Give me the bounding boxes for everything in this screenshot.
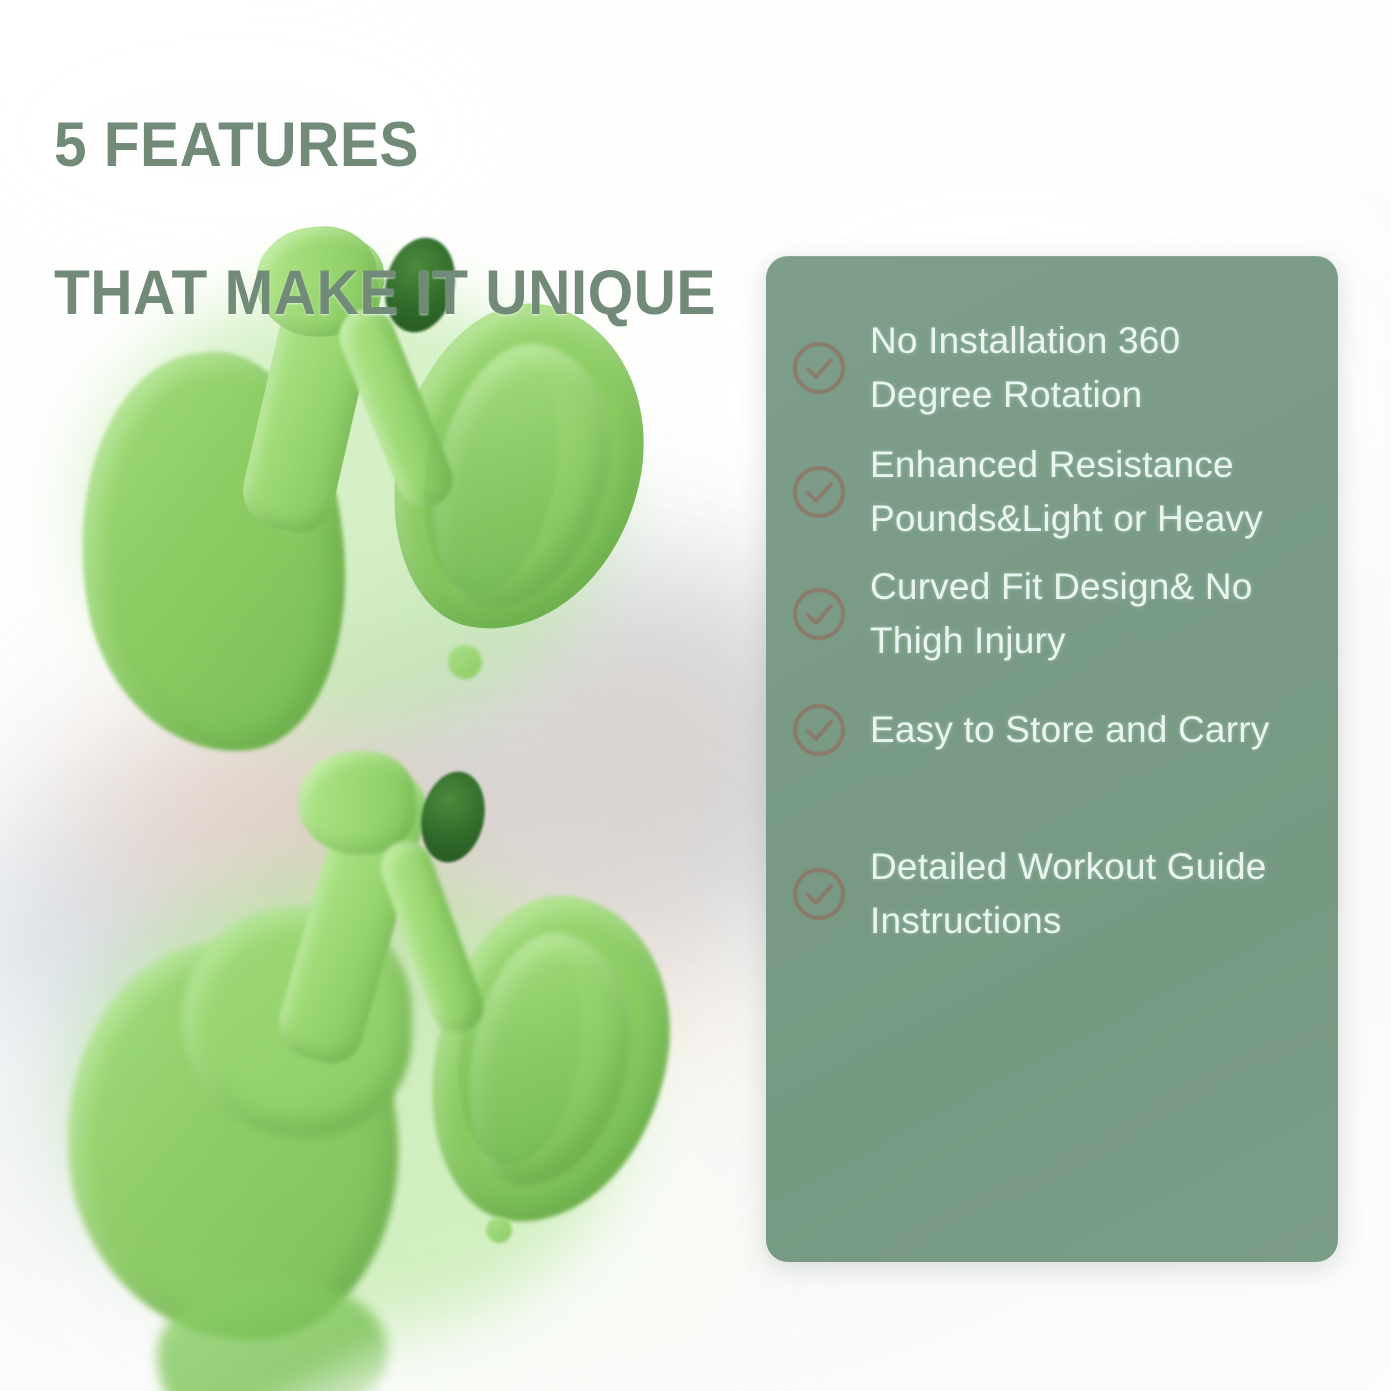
feature-list: No Installation 360 Degree Rotation Enha… xyxy=(766,256,1338,1262)
feature-item-1: No Installation 360 Degree Rotation xyxy=(766,314,1312,422)
product-image-lower xyxy=(40,745,720,1391)
check-circle-icon xyxy=(790,585,848,643)
check-circle-icon xyxy=(790,463,848,521)
page-title-line-2: THAT MAKE IT UNIQUE xyxy=(54,256,872,330)
page-title-line-1: 5 FEATURES xyxy=(54,108,872,182)
feature-panel: No Installation 360 Degree Rotation Enha… xyxy=(766,256,1338,1262)
check-circle-icon xyxy=(790,701,848,759)
feature-item-4: Easy to Store and Carry xyxy=(766,682,1312,778)
feature-item-2: Enhanced Resistance Pounds&Light or Heav… xyxy=(766,438,1312,546)
page-title: 5 FEATURES THAT MAKE IT UNIQUE xyxy=(54,34,872,404)
feature-label: No Installation 360 Degree Rotation xyxy=(870,314,1312,422)
feature-item-5: Detailed Workout Guide Instructions xyxy=(766,840,1312,948)
feature-label: Enhanced Resistance Pounds&Light or Heav… xyxy=(870,438,1312,546)
infographic-canvas: 5 FEATURES THAT MAKE IT UNIQUE No Instal… xyxy=(0,0,1391,1391)
check-circle-icon xyxy=(790,339,848,397)
feature-item-3: Curved Fit Design& No Thigh Injury xyxy=(766,560,1312,668)
feature-label: Easy to Store and Carry xyxy=(870,703,1312,757)
check-circle-icon xyxy=(790,865,848,923)
product-knob xyxy=(486,1217,512,1243)
feature-label: Detailed Workout Guide Instructions xyxy=(870,840,1312,948)
product-knob xyxy=(448,645,482,679)
feature-label: Curved Fit Design& No Thigh Injury xyxy=(870,560,1312,668)
